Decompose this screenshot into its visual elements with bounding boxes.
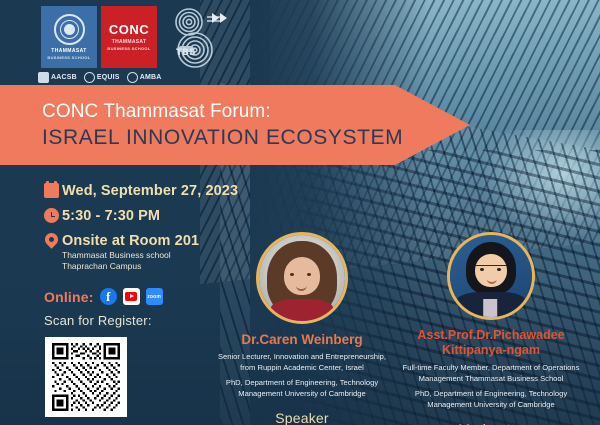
moderator-portrait — [447, 232, 535, 320]
moderator-affiliation-line1: Full-time Faculty Member, Department of … — [396, 363, 586, 374]
speaker-portrait — [256, 232, 348, 324]
equis-mark-icon — [84, 72, 95, 83]
location-pin-icon — [40, 232, 62, 246]
speaker-card: Dr.Caren Weinberg Senior Lecturer, Innov… — [212, 232, 392, 425]
aacsb-mark-icon — [38, 72, 49, 83]
moderator-role: Moderator — [396, 421, 586, 425]
qr-code-image — [51, 343, 121, 411]
forum-kicker: CONC Thammasat Forum: — [42, 99, 470, 124]
speaker-affiliation-line1: Senior Lecturer, Innovation and Entrepre… — [212, 352, 392, 363]
conc-logo-line1: CONC — [109, 22, 149, 37]
conc-logo-line2: THAMMASAT — [112, 39, 147, 46]
online-channels: Online: f zoom — [44, 288, 163, 305]
speaker-affiliation-line2: from Ruppin Academic Center, Israel — [212, 363, 392, 374]
aacsb-label: AACSB — [51, 74, 77, 81]
conc-logo: CONC THAMMASAT BUSINESS SCHOOL — [101, 6, 157, 68]
accreditation-equis: EQUIS — [84, 72, 120, 83]
thammasat-logo-line2: BUSINESS SCHOOL — [47, 55, 90, 61]
clock-icon — [40, 207, 62, 223]
equis-label: EQUIS — [97, 74, 120, 81]
online-label: Online: — [44, 289, 94, 305]
speaker-name: Dr.Caren Weinberg — [212, 332, 392, 347]
headline-banner: CONC Thammasat Forum: ISRAEL INNOVATION … — [0, 85, 470, 165]
accreditation-amba: AMBA — [127, 72, 162, 83]
moderator-education-line2: Management University of Cambridge — [396, 400, 586, 411]
conc-logo-line3: BUSINESS SCHOOL — [107, 46, 150, 52]
forum-title: ISRAEL INNOVATION ECOSYSTEM — [42, 124, 470, 152]
facebook-icon[interactable]: f — [100, 288, 117, 305]
amba-mark-icon — [127, 72, 138, 83]
tbs-85-anniversary-icon: TBS — [162, 2, 234, 74]
event-venue-line2: Thammasat Business school — [62, 250, 199, 261]
event-venue-text: Onsite at Room 201 — [62, 232, 199, 250]
logo-bar: THAMMASAT BUSINESS SCHOOL CONC THAMMASAT… — [0, 0, 420, 86]
moderator-education-line1: PhD, Department of Engineering, Technolo… — [396, 389, 586, 400]
moderator-affiliation-line2: Management Thammasat Business School — [396, 374, 586, 385]
thammasat-seal-icon — [54, 14, 85, 45]
youtube-icon[interactable] — [123, 288, 140, 305]
zoom-icon[interactable]: zoom — [146, 288, 163, 305]
moderator-name: Asst.Prof.Dr.Pichawadee Kittipanya-ngam — [396, 328, 586, 358]
calendar-icon — [40, 182, 62, 198]
accreditation-aacsb: AACSB — [38, 72, 77, 83]
moderator-card: Asst.Prof.Dr.Pichawadee Kittipanya-ngam … — [396, 232, 586, 425]
event-date-text: Wed, September 27, 2023 — [62, 182, 238, 200]
event-date-row: Wed, September 27, 2023 — [40, 182, 270, 200]
event-time-row: 5:30 - 7:30 PM — [40, 207, 270, 225]
amba-label: AMBA — [140, 74, 162, 81]
qr-code-registration[interactable] — [45, 337, 127, 417]
speaker-role: Speaker — [212, 410, 392, 425]
speaker-education-line2: Management University of Cambridge — [212, 389, 392, 400]
accreditation-logos: AACSB EQUIS AMBA — [38, 72, 161, 83]
thammasat-logo-line1: THAMMASAT — [51, 48, 86, 55]
event-venue-line3: Thaprachan Campus — [62, 261, 199, 272]
speaker-education-line1: PhD, Department of Engineering, Technolo… — [212, 378, 392, 389]
scan-register-label: Scan for Register: — [44, 313, 152, 328]
thammasat-business-school-logo: THAMMASAT BUSINESS SCHOOL — [41, 6, 97, 68]
tbs-85-label: TBS — [176, 48, 195, 58]
event-time-text: 5:30 - 7:30 PM — [62, 207, 160, 225]
event-poster: THAMMASAT BUSINESS SCHOOL CONC THAMMASAT… — [0, 0, 600, 425]
